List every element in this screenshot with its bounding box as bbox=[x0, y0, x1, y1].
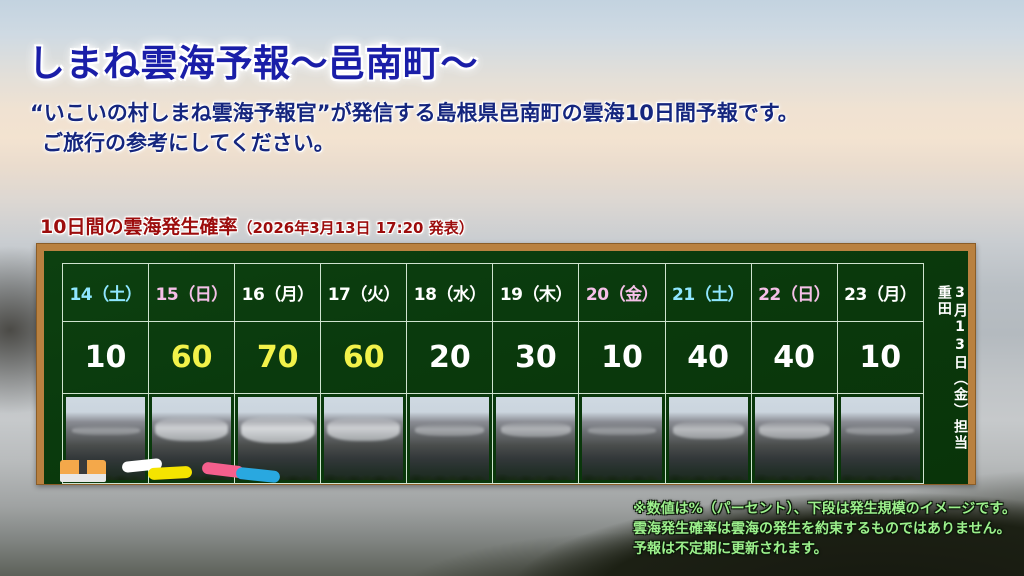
probability-value-cell: 40 bbox=[665, 322, 751, 393]
blackboard-panel: 14（土）15（日）16（月）17（火）18（水）19（木）20（金）21（土）… bbox=[36, 243, 976, 485]
footer-note: ※数値は%（パーセント）、下段は発生規模のイメージです。 雲海発生確率は雲海の発… bbox=[633, 500, 1016, 560]
cloud-band bbox=[327, 417, 400, 441]
probability-value-cell: 10 bbox=[579, 322, 665, 393]
cloud-band bbox=[846, 426, 914, 435]
footer-note-line-2: 雲海発生確率は雲海の発生を約束するものではありません。 bbox=[633, 520, 1016, 540]
cloud-band bbox=[759, 421, 830, 439]
panel-heading-main: 10日間の雲海発生確率 bbox=[40, 216, 237, 238]
chalk-blue-icon bbox=[235, 467, 280, 484]
page-title: しまね雲海予報〜邑南町〜 bbox=[28, 33, 478, 87]
footer-note-line-1: ※数値は%（パーセント）、下段は発生規模のイメージです。 bbox=[633, 500, 1016, 520]
subtitle-line-1: “いこいの村しまね雲海予報官”が発信する島根県邑南町の雲海10日間予報です。 bbox=[30, 101, 799, 125]
probability-value-cell: 60 bbox=[321, 322, 407, 393]
cloud-band bbox=[241, 416, 315, 443]
probability-value-cell: 70 bbox=[235, 322, 321, 393]
cloud-band bbox=[501, 422, 571, 437]
probability-value-cell: 30 bbox=[493, 322, 579, 393]
probability-value-cell: 10 bbox=[63, 322, 149, 393]
day-header-cell: 15（日） bbox=[149, 264, 235, 322]
day-header-cell: 16（月） bbox=[235, 264, 321, 322]
probability-value-cell: 60 bbox=[149, 322, 235, 393]
page-subtitle: “いこいの村しまね雲海予報官”が発信する島根県邑南町の雲海10日間予報です。 ご… bbox=[30, 98, 1000, 159]
day-header-cell: 18（水） bbox=[407, 264, 493, 322]
cloud-band bbox=[588, 426, 656, 435]
cloud-band bbox=[673, 421, 744, 439]
cloud-band bbox=[415, 424, 484, 436]
day-header-cell: 20（金） bbox=[579, 264, 665, 322]
probability-value-cell: 20 bbox=[407, 322, 493, 393]
eraser-band bbox=[79, 460, 87, 474]
day-header-cell: 14（土） bbox=[63, 264, 149, 322]
eraser-felt bbox=[60, 474, 106, 482]
panel-heading: 10日間の雲海発生確率（2026年3月13日 17:20 発表） bbox=[40, 212, 474, 239]
subtitle-line-2: ご旅行の参考にしてください。 bbox=[30, 128, 1000, 158]
forecast-poster: しまね雲海予報〜邑南町〜 “いこいの村しまね雲海予報官”が発信する島根県邑南町の… bbox=[0, 0, 1024, 576]
cloud-band bbox=[155, 417, 228, 441]
panel-heading-timestamp: （2026年3月13日 17:20 発表） bbox=[237, 219, 473, 237]
footer-note-line-3: 予報は不定期に更新されます。 bbox=[633, 540, 1016, 560]
probability-value-cell: 10 bbox=[837, 322, 923, 393]
table-row-values: 10607060203010404010 bbox=[63, 322, 924, 393]
day-header-cell: 21（土） bbox=[665, 264, 751, 322]
day-header-cell: 23（月） bbox=[837, 264, 923, 322]
blackboard-eraser-icon bbox=[60, 460, 106, 482]
day-header-cell: 22（日） bbox=[751, 264, 837, 322]
chalk-tray bbox=[44, 444, 968, 484]
day-header-cell: 19（木） bbox=[493, 264, 579, 322]
chalk-yellow-icon bbox=[148, 466, 193, 480]
cloud-band bbox=[72, 426, 140, 435]
day-header-cell: 17（火） bbox=[321, 264, 407, 322]
table-row-days: 14（土）15（日）16（月）17（火）18（水）19（木）20（金）21（土）… bbox=[63, 264, 924, 322]
probability-value-cell: 40 bbox=[751, 322, 837, 393]
blackboard-surface: 14（土）15（日）16（月）17（火）18（水）19（木）20（金）21（土）… bbox=[44, 251, 968, 484]
